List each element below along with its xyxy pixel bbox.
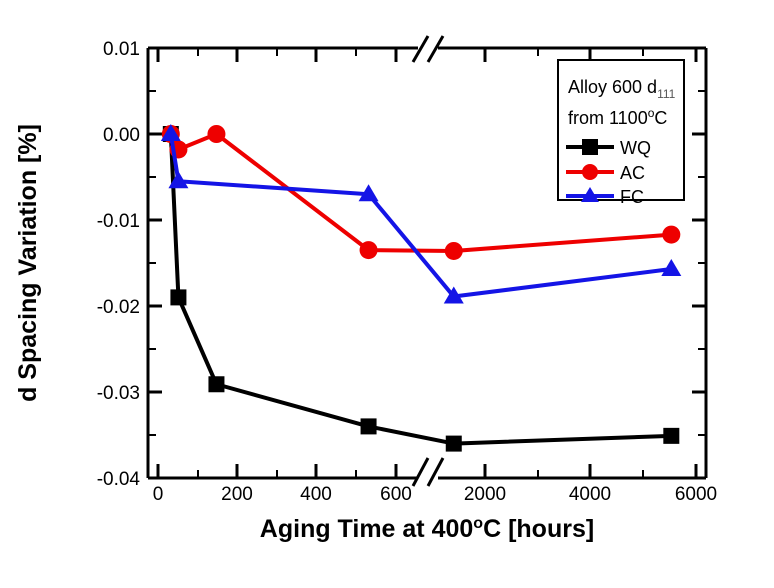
y-tick-label: 0.01 — [103, 39, 140, 60]
chart-figure: 0 200 400 600 2000 4000 6000 0.01 0.00 -… — [0, 0, 774, 588]
legend-label-fc: FC — [620, 187, 644, 207]
triangle-marker-icon — [661, 259, 681, 276]
square-marker-icon — [446, 436, 462, 452]
square-marker-icon — [170, 289, 186, 305]
square-marker-icon — [208, 376, 224, 392]
axis-break-marker-bottom — [413, 458, 443, 486]
circle-marker-icon — [582, 164, 598, 180]
square-marker-icon — [582, 139, 598, 155]
x-tick-label: 200 — [221, 484, 253, 505]
y-tick-label: -0.04 — [97, 469, 141, 490]
y-tick-label: -0.03 — [97, 383, 140, 404]
y-tick-label: -0.02 — [97, 297, 140, 318]
x-tick-label: 400 — [300, 484, 332, 505]
circle-marker-icon — [662, 226, 680, 244]
x-tick-label: 2000 — [464, 484, 506, 505]
x-axis-ticks-left — [158, 48, 396, 478]
chart-canvas: 0 200 400 600 2000 4000 6000 0.01 0.00 -… — [0, 0, 774, 588]
circle-marker-icon — [445, 242, 463, 260]
square-marker-icon — [361, 418, 377, 434]
legend-label-wq: WQ — [620, 138, 651, 158]
circle-marker-icon — [207, 125, 225, 143]
svg-text:Aging Time at 400oC [hours]: Aging Time at 400oC [hours] — [260, 515, 594, 543]
x-axis-tick-labels: 0 200 400 600 2000 4000 6000 — [153, 484, 717, 505]
legend-label-ac: AC — [620, 163, 645, 183]
degree-symbol-icon: o — [473, 515, 483, 532]
x-axis-title-pre: Aging Time at 400 — [260, 515, 474, 543]
x-axis-title: Aging Time at 400oC [hours] — [260, 515, 594, 543]
y-tick-label: 0.00 — [103, 125, 140, 146]
y-tick-label: -0.01 — [97, 211, 140, 232]
y-axis-title: d Spacing Variation [%] — [14, 124, 42, 402]
y-axis-title-text: d Spacing Variation [%] — [14, 124, 42, 402]
x-tick-label: 600 — [380, 484, 412, 505]
y-axis-tick-labels: 0.01 0.00 -0.01 -0.02 -0.03 -0.04 — [97, 39, 141, 490]
circle-marker-icon — [360, 241, 378, 259]
x-tick-label: 4000 — [569, 484, 611, 505]
legend-box[interactable]: Alloy 600 d111 from 1100oC WQ AC — [558, 60, 684, 207]
x-axis-title-post: C [hours] — [483, 515, 594, 543]
x-tick-label: 6000 — [675, 484, 717, 505]
square-marker-icon — [663, 428, 679, 444]
legend-subscript: 111 — [657, 87, 676, 101]
x-tick-label: 0 — [153, 484, 164, 505]
